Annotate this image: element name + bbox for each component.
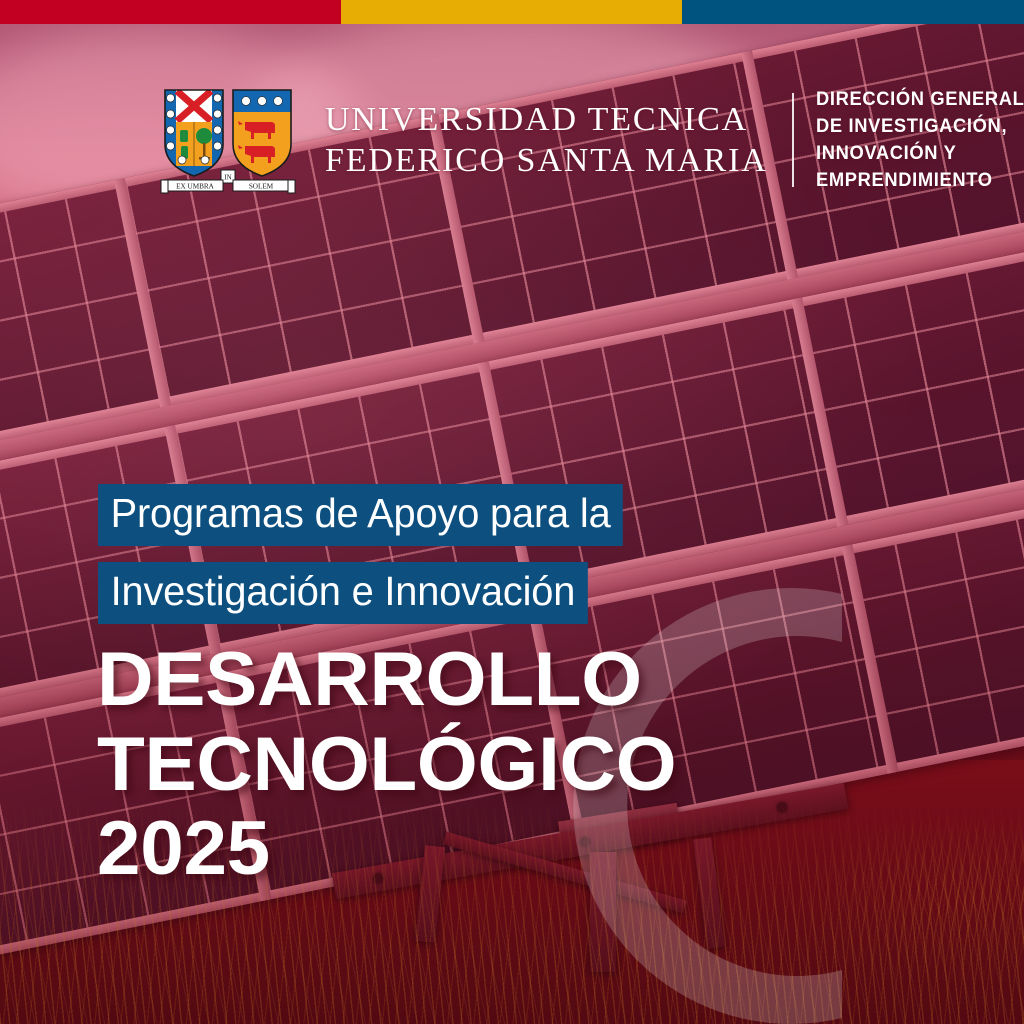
page-title: DESARROLLO TECNOLÓGICO 2025 xyxy=(97,638,676,892)
university-name-line1: UNIVERSIDAD TECNICA xyxy=(325,99,768,140)
department-name-line4: EMPRENDIMIENTO xyxy=(816,167,1024,194)
utfsm-coat-of-arms: IN EX UMBRA SOLEM xyxy=(157,86,303,194)
university-name: UNIVERSIDAD TECNICA FEDERICO SANTA MARIA xyxy=(325,99,768,182)
department-name-line1: DIRECCIÓN GENERAL xyxy=(816,86,1024,113)
color-bar-yellow xyxy=(341,0,682,24)
subtitle-line1: Programas de Apoyo para la xyxy=(98,484,623,546)
headline-line2: TECNOLÓGICO xyxy=(97,723,676,808)
color-bar-blue xyxy=(682,0,1024,24)
department-name-line2: DE INVESTIGACIÓN, xyxy=(816,113,1024,140)
headline-line1: DESARROLLO xyxy=(97,638,676,723)
poster-canvas: IN EX UMBRA SOLEM UNIVERSIDAD TECNICA FE… xyxy=(0,0,1024,1024)
motto-middle: IN xyxy=(224,173,231,181)
logo-divider xyxy=(792,93,794,187)
brand-color-bar xyxy=(0,0,1024,24)
department-name: DIRECCIÓN GENERAL DE INVESTIGACIÓN, INNO… xyxy=(816,86,1024,194)
subtitle-line2: Investigación e Innovación xyxy=(98,562,588,624)
color-bar-red xyxy=(0,0,341,24)
motto-right: SOLEM xyxy=(249,182,274,190)
headline-line3: 2025 xyxy=(97,807,676,892)
crest-motto-banner: IN EX UMBRA SOLEM xyxy=(161,170,295,193)
motto-left: EX UMBRA xyxy=(176,182,215,190)
department-name-line3: INNOVACIÓN Y xyxy=(816,140,1024,167)
university-name-line2: FEDERICO SANTA MARIA xyxy=(325,140,768,181)
subtitle-block: Programas de Apoyo para la Investigación… xyxy=(98,484,639,624)
institutional-logo-lockup: IN EX UMBRA SOLEM UNIVERSIDAD TECNICA FE… xyxy=(157,86,1024,194)
